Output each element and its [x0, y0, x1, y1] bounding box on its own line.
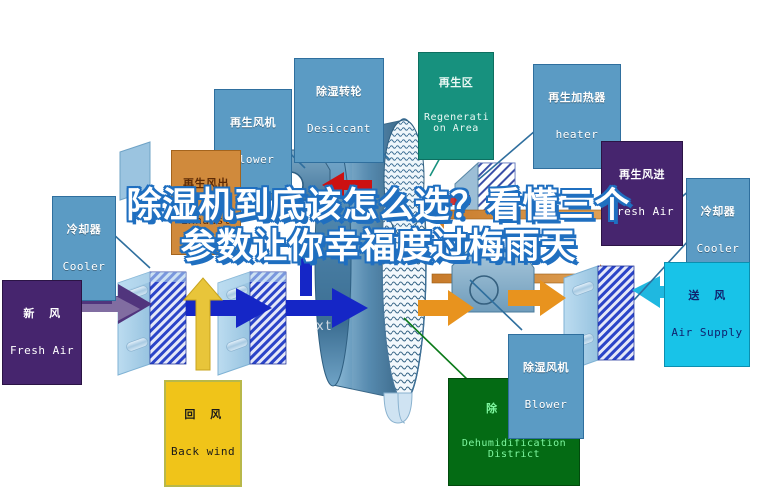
label-regeneration-fresh-air-cn: 再生风进	[607, 169, 677, 181]
left-cooler-coil-2	[218, 272, 286, 375]
label-desiccant-rotor-en: Desiccant	[300, 123, 378, 135]
rotor-bottom-duct	[384, 393, 412, 423]
label-regeneration-blower-cn: 再生风机	[220, 117, 286, 129]
left-cooler-coil-1	[118, 272, 186, 375]
label-back-wind: 回 风 Back wind	[164, 380, 242, 487]
arrow-back-wind-yellow	[184, 278, 222, 370]
label-back-wind-en: Back wind	[171, 446, 235, 458]
label-dehumidification-blower-cn: 除湿风机	[514, 362, 578, 374]
label-regeneration-heater-en: heater	[539, 129, 615, 141]
label-dehumidification-blower: 除湿风机 Blower	[508, 334, 584, 439]
label-regeneration-area: 再生区 Regenerati on Area	[418, 52, 494, 160]
label-air-supply: 送 风 Air Supply	[664, 262, 750, 367]
label-back-wind-cn: 回 风	[171, 409, 235, 421]
label-dehumidification-blower-en: Blower	[514, 399, 578, 411]
label-desiccant-rotor-cn: 除湿转轮	[300, 86, 378, 98]
label-regeneration-heater-cn: 再生加热器	[539, 92, 615, 104]
label-air-supply-cn: 送 风	[670, 290, 744, 302]
dehumidifier-schematic-image: xt 除湿转轮 Desiccant 再生风机 Blower 再生区 Regene…	[0, 0, 757, 488]
label-regeneration-area-cn: 再生区	[424, 77, 488, 89]
label-air-supply-en: Air Supply	[670, 327, 744, 339]
label-desiccant-rotor: 除湿转轮 Desiccant	[294, 58, 384, 163]
label-dehumidification-district-en: Dehumidification District	[454, 438, 574, 460]
label-regeneration-area-en: Regenerati on Area	[424, 112, 488, 134]
label-fresh-air-inlet: 新 风 Fresh Air	[2, 280, 82, 385]
label-fresh-air-inlet-cn: 新 风	[8, 308, 76, 320]
headline-overlay-text: 除湿机到底该怎么选？看懂三个参数让你幸福度过梅雨天	[0, 186, 757, 268]
watermark-text: xt	[316, 319, 333, 334]
label-fresh-air-inlet-en: Fresh Air	[8, 345, 76, 357]
